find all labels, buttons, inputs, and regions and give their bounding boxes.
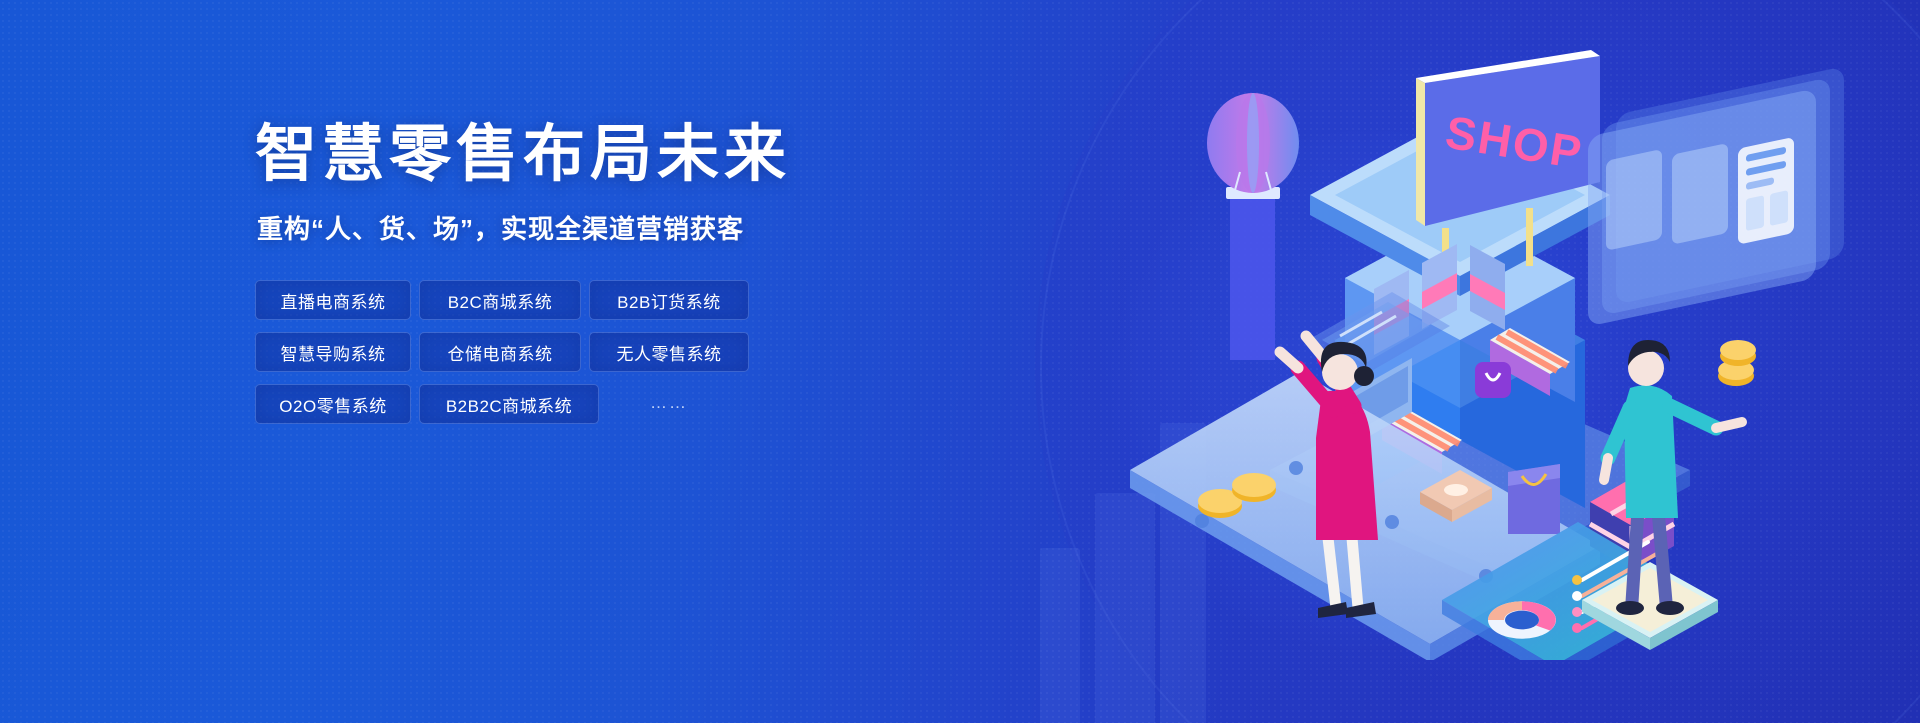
floating-badge <box>1475 362 1511 398</box>
tag-smart-guide[interactable]: 智慧导购系统 <box>255 332 411 372</box>
tag-b2b-ordering[interactable]: B2B订货系统 <box>589 280 749 320</box>
hot-air-balloon <box>1207 93 1299 360</box>
donut-chart <box>1488 601 1556 638</box>
tag-b2c-mall[interactable]: B2C商城系统 <box>419 280 581 320</box>
tag-unmanned-retail[interactable]: 无人零售系统 <box>589 332 749 372</box>
page-subtitle: 重构“人、货、场”，实现全渠道营销获客 <box>257 209 895 246</box>
shopping-bag <box>1508 464 1560 534</box>
page-title: 智慧零售布局未来 <box>255 120 895 189</box>
tag-o2o-retail[interactable]: O2O零售系统 <box>255 384 411 424</box>
tag-warehouse-commerce[interactable]: 仓储电商系统 <box>419 332 581 372</box>
hero-illustration: SHOP <box>1130 40 1890 660</box>
hero-banner: 智慧零售布局未来 重构“人、货、场”，实现全渠道营销获客 直播电商系统 B2C商… <box>0 0 1920 723</box>
tag-live-commerce[interactable]: 直播电商系统 <box>255 280 411 320</box>
product-tag-grid: 直播电商系统 B2C商城系统 B2B订货系统 智慧导购系统 仓储电商系统 无人零… <box>255 280 755 424</box>
hero-text-block: 智慧零售布局未来 重构“人、货、场”，实现全渠道营销获客 直播电商系统 B2C商… <box>255 120 895 424</box>
tag-b2b2c-mall[interactable]: B2B2C商城系统 <box>419 384 599 424</box>
skyline-block-3 <box>1040 548 1080 723</box>
floating-screens <box>1588 66 1844 326</box>
tag-more-ellipsis: …… <box>589 384 749 422</box>
